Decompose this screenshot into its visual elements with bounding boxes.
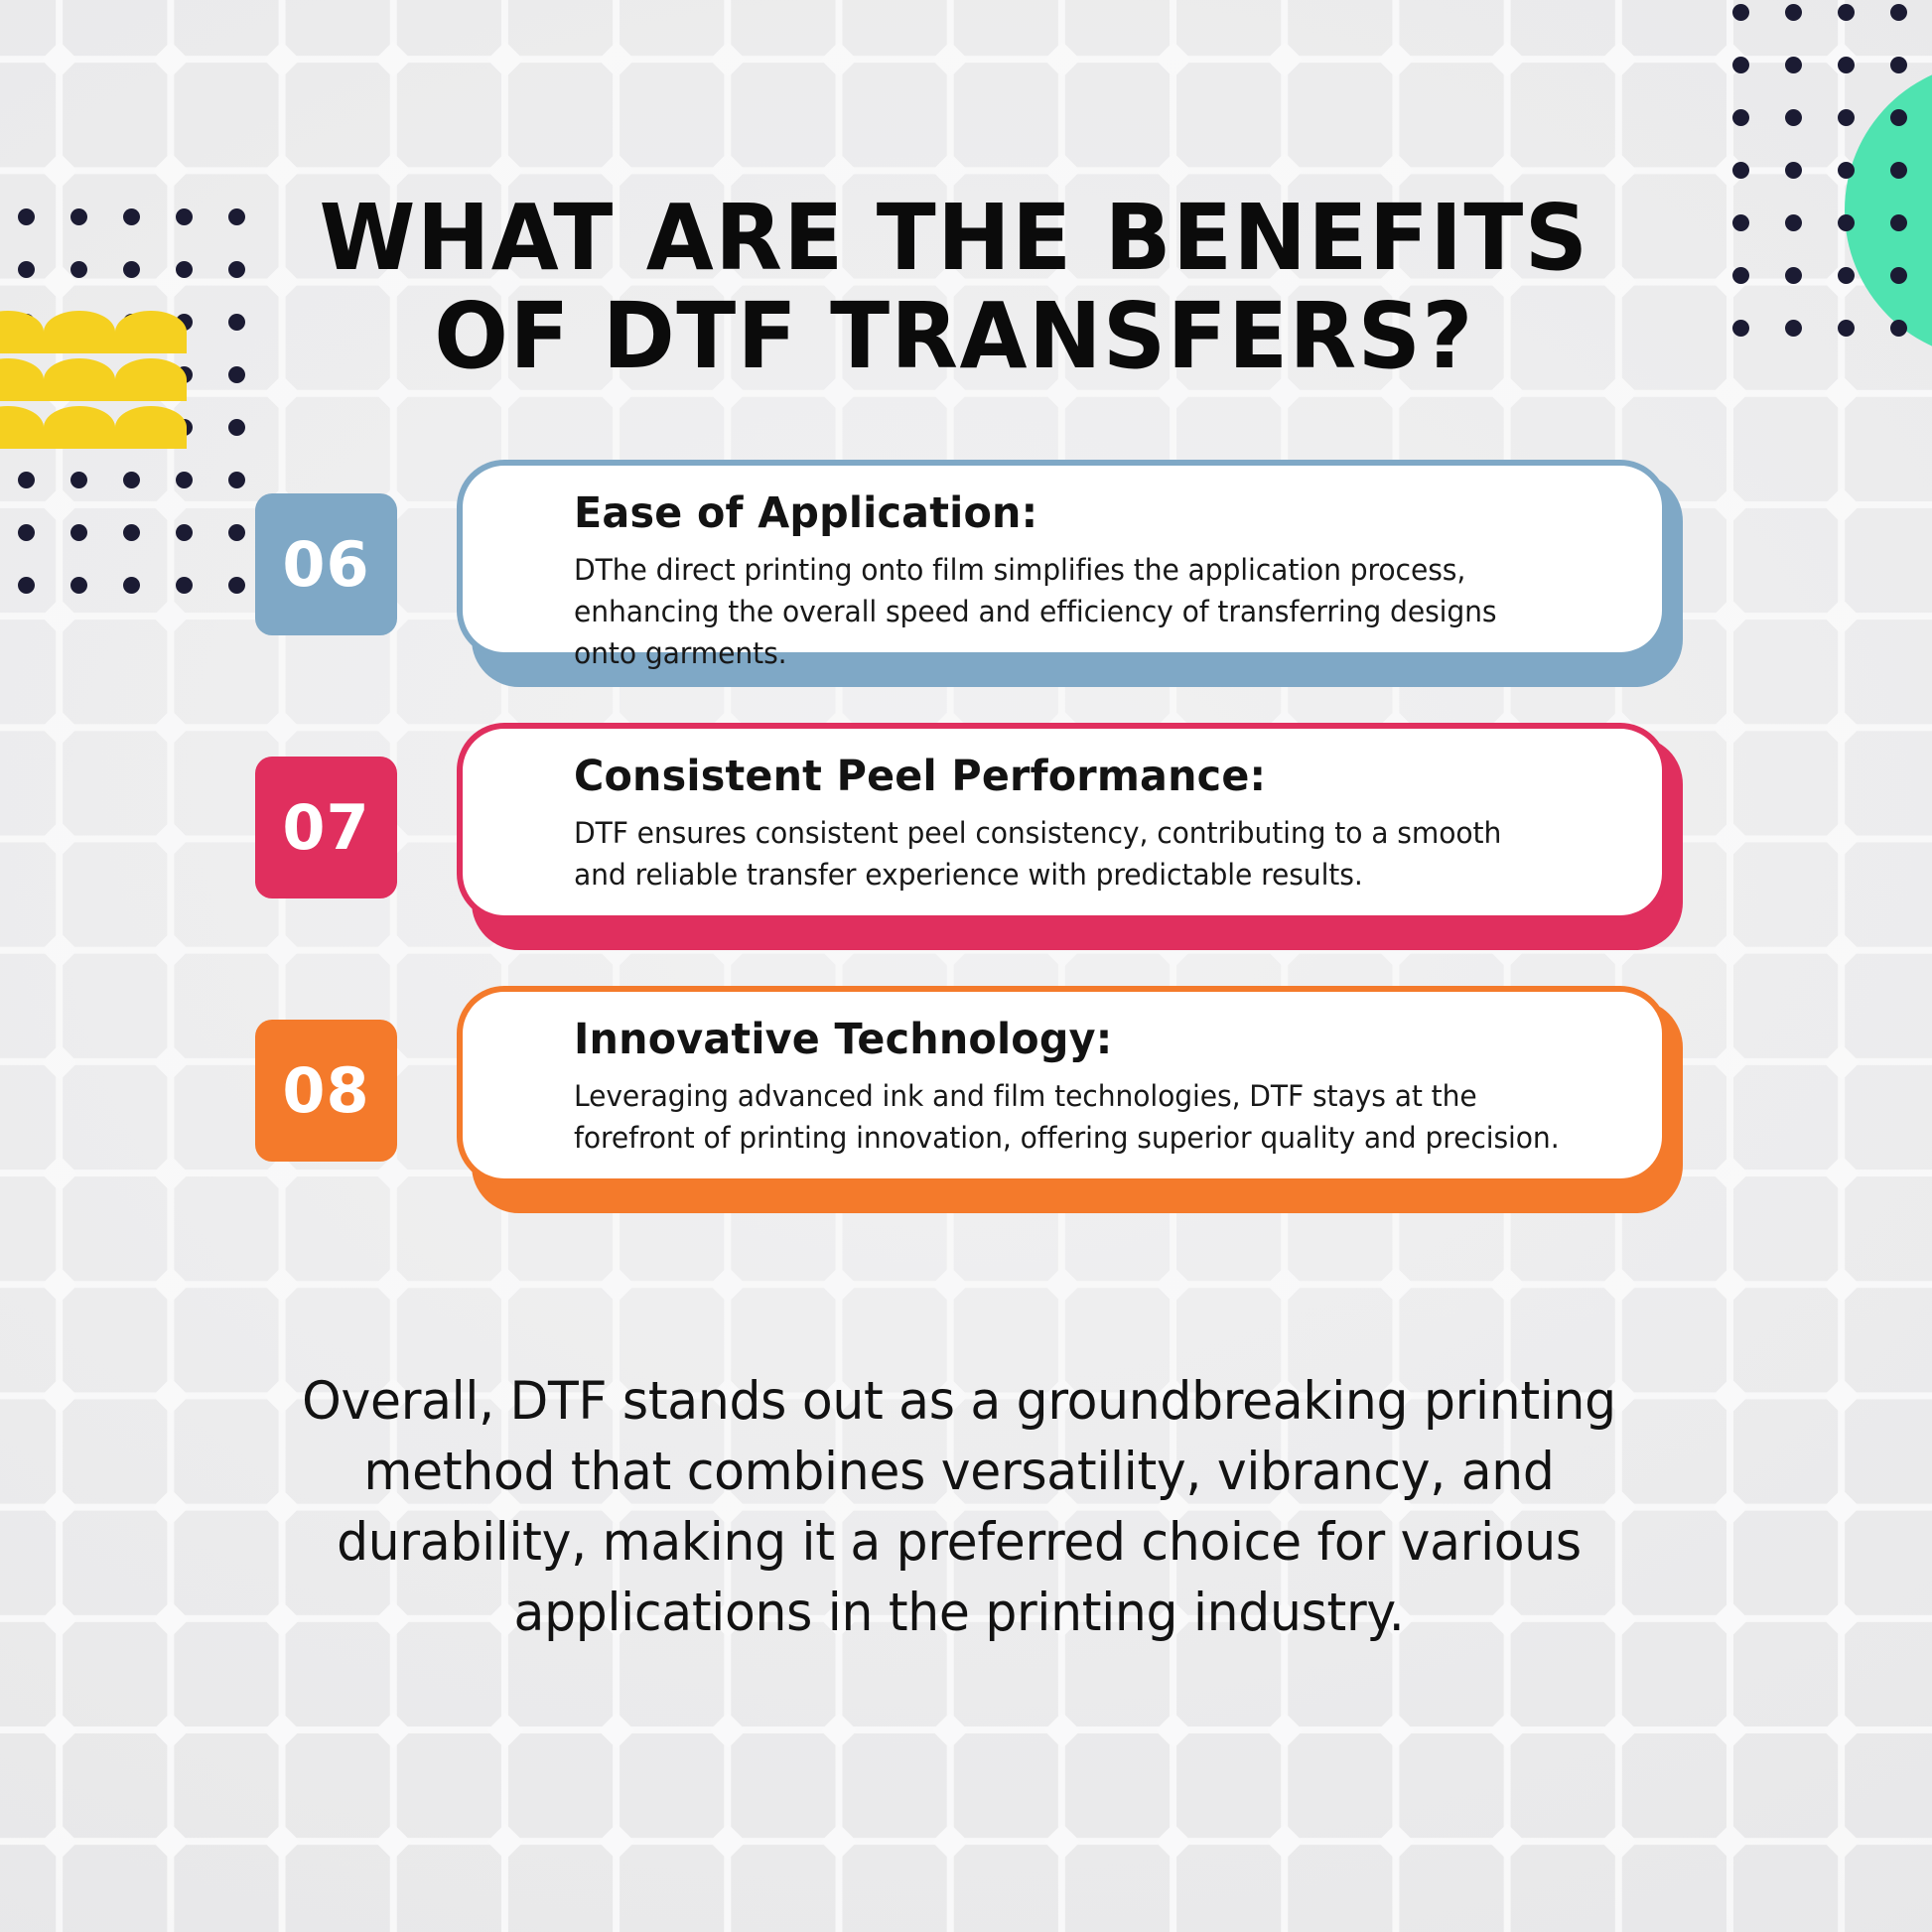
benefit-card: Ease of Application:DThe direct printing… [0, 452, 1932, 715]
card-number-badge: 06 [255, 493, 397, 635]
benefit-card: Consistent Peel Performance:DTF ensures … [0, 715, 1932, 978]
card-number-badge: 07 [255, 757, 397, 898]
card-heading: Ease of Application: [574, 489, 1565, 538]
card-heading: Consistent Peel Performance: [574, 753, 1565, 801]
benefit-card: Innovative Technology:Leveraging advance… [0, 978, 1932, 1241]
card-body-text: DThe direct printing onto film simplifie… [574, 550, 1560, 675]
card-surface: Ease of Application:DThe direct printing… [457, 460, 1668, 658]
card-heading: Innovative Technology: [574, 1016, 1565, 1064]
card-surface: Innovative Technology:Leveraging advance… [457, 986, 1668, 1184]
benefit-card-list: Ease of Application:DThe direct printing… [0, 452, 1932, 1241]
card-number-badge: 08 [255, 1020, 397, 1162]
summary-paragraph: Overall, DTF stands out as a groundbreak… [271, 1366, 1648, 1648]
card-body-text: Leveraging advanced ink and film technol… [574, 1076, 1560, 1160]
card-surface: Consistent Peel Performance:DTF ensures … [457, 723, 1668, 921]
card-body-text: DTF ensures consistent peel consistency,… [574, 813, 1560, 897]
page-title: WHAT ARE THE BENEFITS OF DTF TRANSFERS? [267, 189, 1642, 386]
